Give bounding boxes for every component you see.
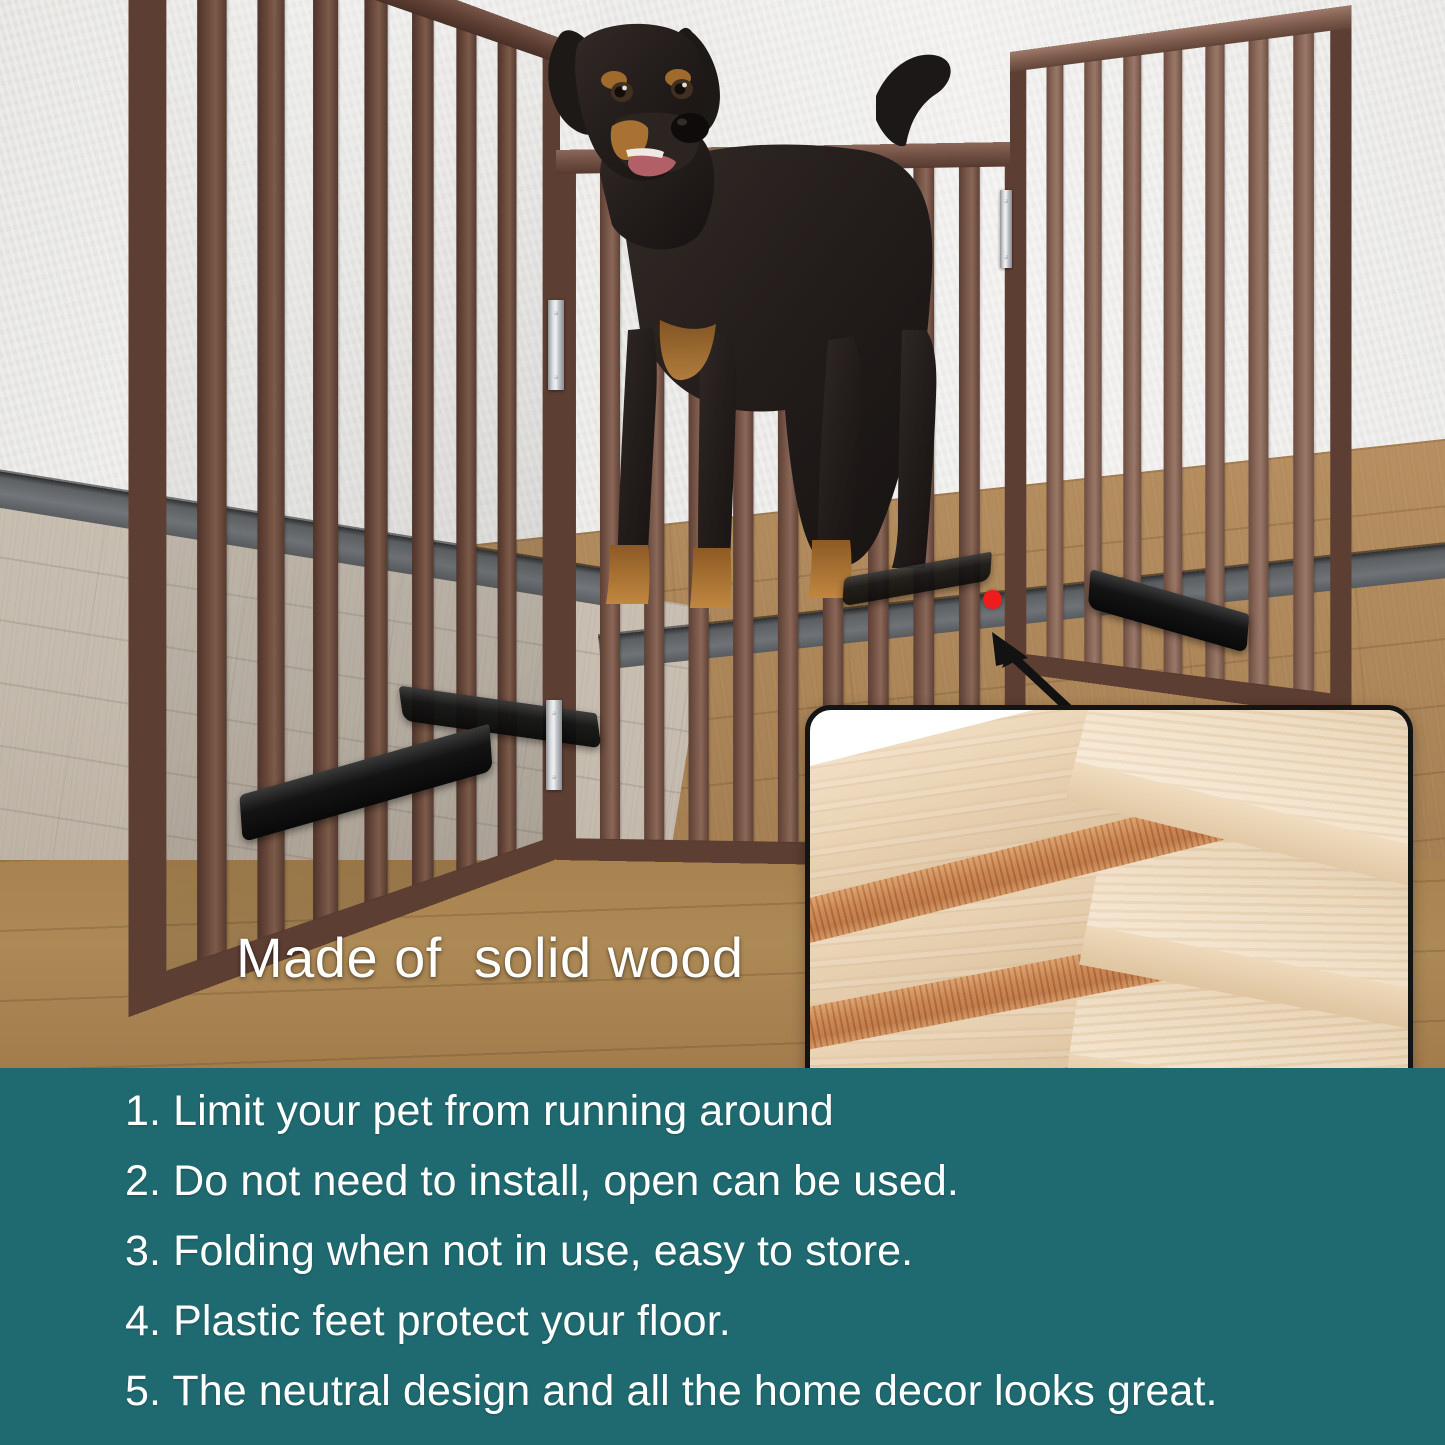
solid-wood-caption: Made of solid wood <box>236 925 744 990</box>
red-marker-dot <box>983 590 1002 609</box>
feature-item-5: 5. The neutral design and all the home d… <box>125 1370 1425 1413</box>
dog-tongue <box>628 155 676 177</box>
feature-list: 1. Limit your pet from running around 2.… <box>125 1090 1425 1440</box>
feature-item-3: 3. Folding when not in use, easy to stor… <box>125 1230 1425 1273</box>
feature-item-4: 4. Plastic feet protect your floor. <box>125 1300 1425 1343</box>
feature-item-1: 1. Limit your pet from running around <box>125 1090 1425 1133</box>
marketing-image-stage: Made of solid wood <box>0 0 1445 1445</box>
product-photo: Made of solid wood <box>0 0 1445 1068</box>
dog-nose <box>671 113 709 143</box>
feature-item-2: 2. Do not need to install, open can be u… <box>125 1160 1425 1203</box>
solid-wood-inset-photo <box>805 705 1413 1068</box>
feature-banner: 1. Limit your pet from running around 2.… <box>0 1068 1445 1445</box>
